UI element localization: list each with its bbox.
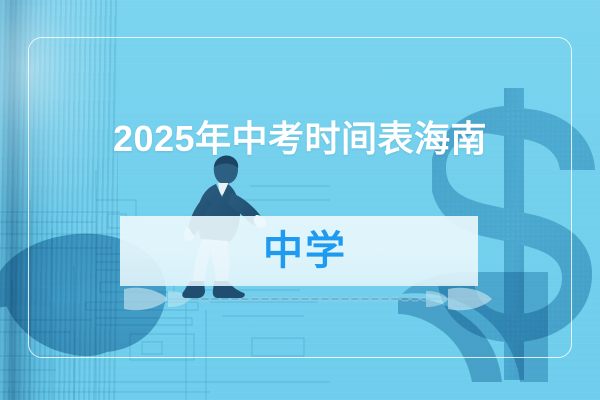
banner-image: 2025年中考时间表海南 中学 xyxy=(0,0,600,400)
tightrope xyxy=(120,283,500,317)
background-base xyxy=(0,0,600,400)
city-skyline-texture xyxy=(0,0,116,400)
subtitle-text: 中学 xyxy=(263,227,347,275)
background-scanline-texture xyxy=(0,0,600,400)
city-skyline-streaks xyxy=(0,0,118,400)
rope-hook-right xyxy=(398,272,548,382)
subtitle-bar: 中学 xyxy=(120,216,478,286)
page-title: 2025年中考时间表海南 xyxy=(0,117,600,161)
decorative-frame xyxy=(28,37,572,358)
